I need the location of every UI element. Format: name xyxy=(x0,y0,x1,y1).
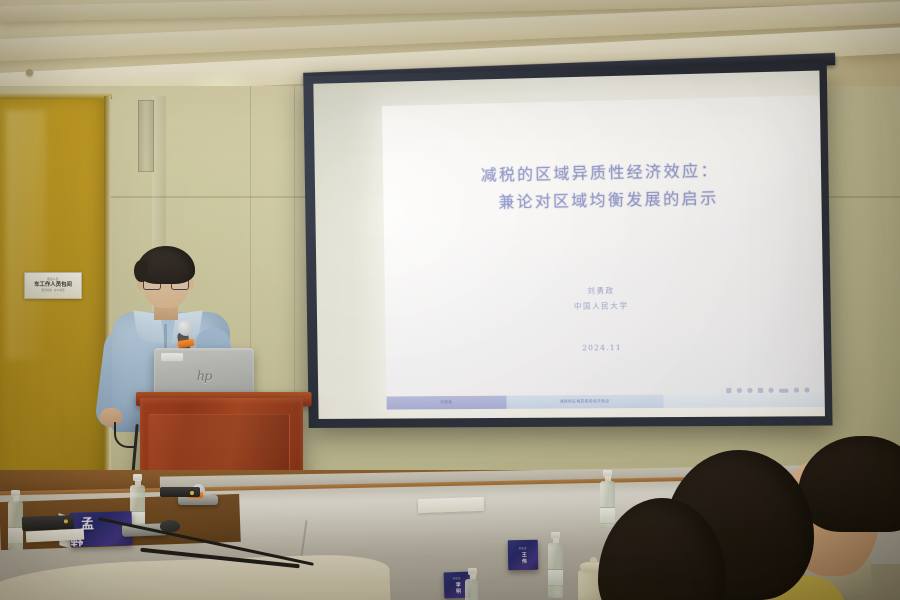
zoom-icon[interactable] xyxy=(779,388,789,392)
name-placard: 财政部 王 伟 xyxy=(508,540,539,571)
pen-icon[interactable] xyxy=(737,388,742,393)
mug-knob xyxy=(590,557,597,563)
ppt-bar-title[interactable]: 减税的区域异质性经济效应 xyxy=(506,395,663,409)
wall-sign: 值班人员 车工作人员包间 服务热线 · 办公电话 xyxy=(24,272,82,299)
wall-vent xyxy=(138,100,154,172)
bottle-label xyxy=(8,527,23,544)
conference-microphone-unit[interactable] xyxy=(160,487,200,497)
presenter-hair xyxy=(137,246,195,284)
sprinkler-head xyxy=(26,69,33,76)
ppt-bar-author[interactable]: 刘勇政 xyxy=(387,396,507,410)
screen-casing: 减税的区域异质性经济效应： 兼论对区域均衡发展的启示 刘勇政 中国人民大学 20… xyxy=(303,62,832,428)
water-bottle[interactable] xyxy=(8,490,23,550)
ppt-bar-right[interactable] xyxy=(663,394,824,408)
placard-name: 李 明 xyxy=(454,582,460,594)
podium-cable xyxy=(114,422,136,448)
placard-org: 财政部 xyxy=(453,576,461,580)
placard-name: 王 伟 xyxy=(520,552,526,564)
water-bottle[interactable] xyxy=(548,532,563,598)
door-highlight xyxy=(6,110,46,360)
pointer-icon[interactable] xyxy=(726,388,731,393)
highlighter-icon[interactable] xyxy=(747,388,752,393)
bottle-body xyxy=(465,579,478,600)
slide-author-block: 刘勇政 中国人民大学 xyxy=(385,281,823,317)
eraser-icon[interactable] xyxy=(758,388,763,393)
status-led-icon xyxy=(190,491,194,495)
redo-icon[interactable] xyxy=(804,387,809,392)
presenter: hp xyxy=(92,248,272,458)
door-top-trim xyxy=(0,92,112,99)
water-bottle[interactable] xyxy=(465,568,478,600)
undo-icon[interactable] xyxy=(794,388,799,393)
bottle-label xyxy=(548,569,563,586)
status-led-icon xyxy=(64,519,68,523)
projected-slide: 减税的区域异质性经济效应： 兼论对区域均衡发展的启示 刘勇政 中国人民大学 20… xyxy=(382,95,825,409)
audience-left-hair xyxy=(598,498,726,600)
slide-date: 2024.11 xyxy=(386,341,824,354)
bottle-body xyxy=(548,543,563,598)
placard-face: 财政部 王 伟 xyxy=(508,540,539,571)
paper-sheet xyxy=(418,497,484,513)
audience-member-left xyxy=(598,498,768,600)
ppt-toolbar-icons[interactable] xyxy=(726,387,810,393)
laptop-sticker xyxy=(161,353,183,361)
projection-screen: 减税的区域异质性经济效应： 兼论对区域均衡发展的启示 刘勇政 中国人民大学 20… xyxy=(303,62,832,428)
placard-org: 财政部 xyxy=(519,546,527,550)
hp-logo-icon: hp xyxy=(197,370,212,385)
wall-sign-sub: 服务热线 · 办公电话 xyxy=(41,289,64,292)
screen-surface: 减税的区域异质性经济效应： 兼论对区域均衡发展的启示 刘勇政 中国人民大学 20… xyxy=(313,71,825,419)
dots-icon[interactable] xyxy=(768,388,773,393)
conference-photo-scene: 值班人员 车工作人员包间 服务热线 · 办公电话 减税的区域异质性经济效应： 兼… xyxy=(0,0,900,600)
ppt-status-bar[interactable]: 刘勇政 减税的区域异质性经济效应 xyxy=(387,394,825,410)
slide-title: 减税的区域异质性经济效应： 兼论对区域均衡发展的启示 xyxy=(383,155,822,219)
bottle-body xyxy=(8,501,23,550)
